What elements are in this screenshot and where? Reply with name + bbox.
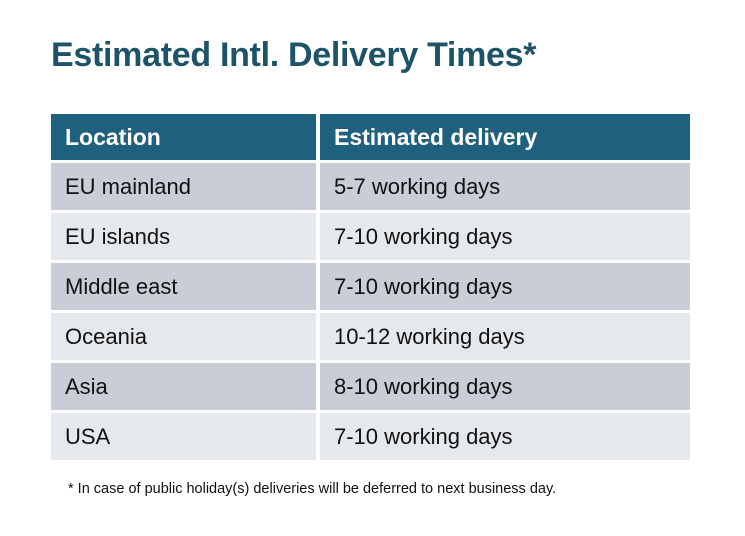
cell-delivery: 7-10 working days bbox=[320, 213, 690, 260]
table-row: USA 7-10 working days bbox=[51, 413, 690, 460]
cell-delivery: 5-7 working days bbox=[320, 163, 690, 210]
cell-location: Asia bbox=[51, 363, 316, 410]
page-title: Estimated Intl. Delivery Times* bbox=[51, 36, 536, 75]
cell-delivery: 7-10 working days bbox=[320, 413, 690, 460]
cell-location: Middle east bbox=[51, 263, 316, 310]
column-header-estimated-delivery: Estimated delivery bbox=[320, 114, 690, 160]
table-row: EU mainland 5-7 working days bbox=[51, 163, 690, 210]
cell-delivery: 8-10 working days bbox=[320, 363, 690, 410]
table-row: Middle east 7-10 working days bbox=[51, 263, 690, 310]
cell-delivery: 10-12 working days bbox=[320, 313, 690, 360]
cell-location: EU islands bbox=[51, 213, 316, 260]
table-row: Oceania 10-12 working days bbox=[51, 313, 690, 360]
table-row: Asia 8-10 working days bbox=[51, 363, 690, 410]
cell-location: EU mainland bbox=[51, 163, 316, 210]
delivery-times-page: Estimated Intl. Delivery Times* Location… bbox=[0, 0, 745, 536]
delivery-times-table: Location Estimated delivery EU mainland … bbox=[51, 114, 690, 460]
column-header-location: Location bbox=[51, 114, 316, 160]
cell-location: USA bbox=[51, 413, 316, 460]
cell-location: Oceania bbox=[51, 313, 316, 360]
footnote: * In case of public holiday(s) deliverie… bbox=[68, 481, 556, 497]
table-row: EU islands 7-10 working days bbox=[51, 213, 690, 260]
table-header-row: Location Estimated delivery bbox=[51, 114, 690, 160]
cell-delivery: 7-10 working days bbox=[320, 263, 690, 310]
